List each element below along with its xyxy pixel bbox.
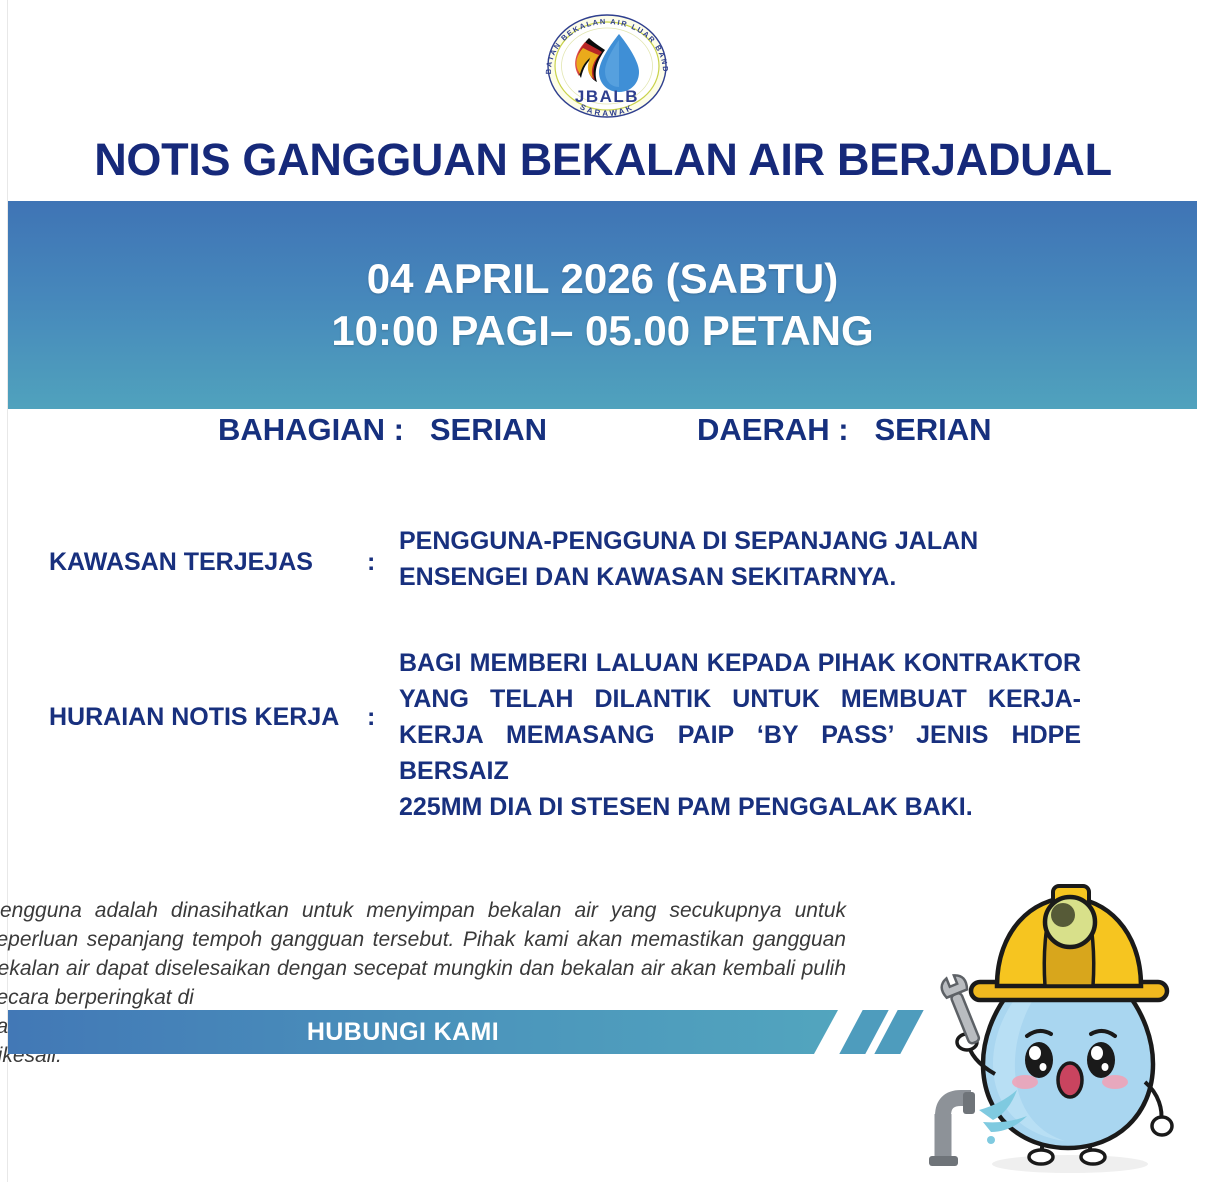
notice-date: 04 APRIL 2026 (SABTU) [367,255,838,303]
daerah-value: SERIAN [874,412,991,447]
date-time-banner: 04 APRIL 2026 (SABTU) 10:00 PAGI– 05.00 … [8,201,1197,409]
contact-banner: HUBUNGI KAMI [8,1010,888,1054]
huraian-line-1: BAGI MEMBERI LALUAN KEPADA PIHAK KONTRAK… [399,649,1081,677]
jbalb-logo: JBALB JABATAN BEKALAN AIR LUAR BANDAR SA… [533,12,681,120]
water-droplet-mascot-icon [905,864,1205,1182]
huraian-line-3: MEMASANG PAIP ‘BY PASS’ JENIS HDPE BERSA… [399,721,1081,785]
detail-row-kawasan-terjejas: KAWASAN TERJEJAS : PENGGUNA-PENGGUNA DI … [0,510,1206,600]
svg-text:JBALB: JBALB [575,87,639,106]
kawasan-colon: : [367,548,375,577]
region-row: BAHAGIAN : SERIAN DAERAH : SERIAN [0,412,1206,454]
kawasan-value: PENGGUNA-PENGGUNA DI SEPANJANG JALAN ENS… [399,523,1081,595]
kawasan-label: KAWASAN TERJEJAS [49,548,313,577]
daerah-field: DAERAH : SERIAN [697,412,992,448]
notice-page: JBALB JABATAN BEKALAN AIR LUAR BANDAR SA… [0,0,1206,1182]
bahagian-label: BAHAGIAN : [218,412,404,447]
bahagian-value: SERIAN [430,412,547,447]
daerah-label: DAERAH : [697,412,849,447]
huraian-label: HURAIAN NOTIS KERJA [49,703,339,732]
huraian-line-4: 225MM DIA DI STESEN PAM PENGGALAK BAKI. [399,789,1081,825]
bahagian-field: BAHAGIAN : SERIAN [218,412,547,448]
detail-row-huraian-notis-kerja: HURAIAN NOTIS KERJA : BAGI MEMBERI LALUA… [0,640,1206,800]
huraian-value: BAGI MEMBERI LALUAN KEPADA PIHAK KONTRAK… [399,645,1081,825]
kawasan-line-1: PENGGUNA-PENGGUNA DI SEPANJANG JALAN [399,527,978,555]
page-title: NOTIS GANGGUAN BEKALAN AIR BERJADUAL [0,134,1206,186]
huraian-colon: : [367,703,375,732]
notice-time: 10:00 PAGI– 05.00 PETANG [331,307,873,355]
contact-heading: HUBUNGI KAMI [8,1010,798,1054]
kawasan-line-2: ENSENGEI DAN KAWASAN SEKITARNYA. [399,559,1081,595]
